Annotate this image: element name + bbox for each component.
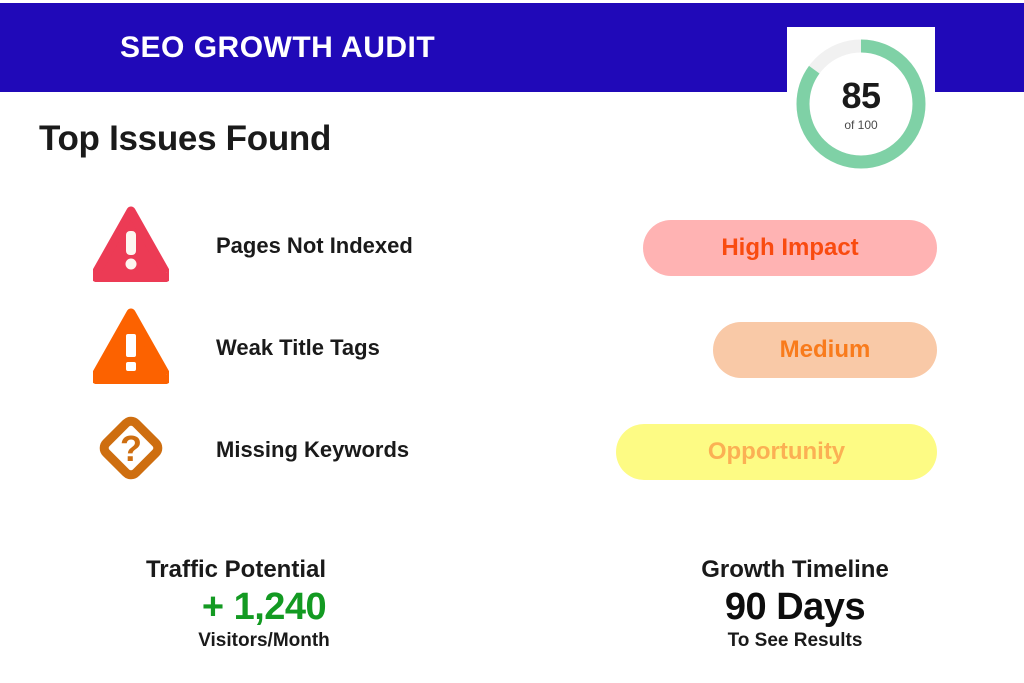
stat-title: Traffic Potential (3, 556, 469, 584)
seo-audit-infographic: SEO GROWTH AUDIT 85 of 100 Top Issues Fo… (0, 0, 1024, 683)
score-value: 85 (841, 78, 880, 114)
impact-badge: High Impact (643, 220, 937, 276)
stat-growth-timeline: Growth Timeline 90 Days To See Results (566, 556, 1024, 653)
issue-row: ? Missing Keywords Opportunity (0, 410, 1024, 512)
issue-row: Pages Not Indexed High Impact (0, 206, 1024, 308)
stat-note: To See Results (562, 630, 1024, 653)
stat-traffic-potential: Traffic Potential + 1,240 Visitors/Month (26, 556, 492, 653)
stat-title: Growth Timeline (562, 556, 1024, 584)
gauge-center: 85 of 100 (790, 33, 932, 175)
issue-label: Missing Keywords (216, 437, 409, 463)
score-sub-label: of 100 (844, 119, 877, 131)
score-gauge: 85 of 100 (790, 33, 932, 175)
impact-badge: Opportunity (616, 424, 937, 480)
stat-note: Visitors/Month (31, 630, 497, 653)
issue-label: Pages Not Indexed (216, 233, 413, 259)
question-diamond-icon: ? (93, 410, 169, 486)
svg-text:?: ? (120, 428, 142, 469)
page-title: SEO GROWTH AUDIT (120, 31, 435, 65)
warning-triangle-icon (93, 206, 169, 282)
issues-list: Pages Not Indexed High Impact Weak Title… (0, 206, 1024, 512)
impact-badge: Medium (713, 322, 937, 378)
warning-triangle-icon (93, 308, 169, 384)
stat-value: + 1,240 (31, 587, 497, 629)
issue-row: Weak Title Tags Medium (0, 308, 1024, 410)
section-heading: Top Issues Found (39, 119, 331, 159)
issue-label: Weak Title Tags (216, 335, 380, 361)
stat-value: 90 Days (562, 587, 1024, 629)
